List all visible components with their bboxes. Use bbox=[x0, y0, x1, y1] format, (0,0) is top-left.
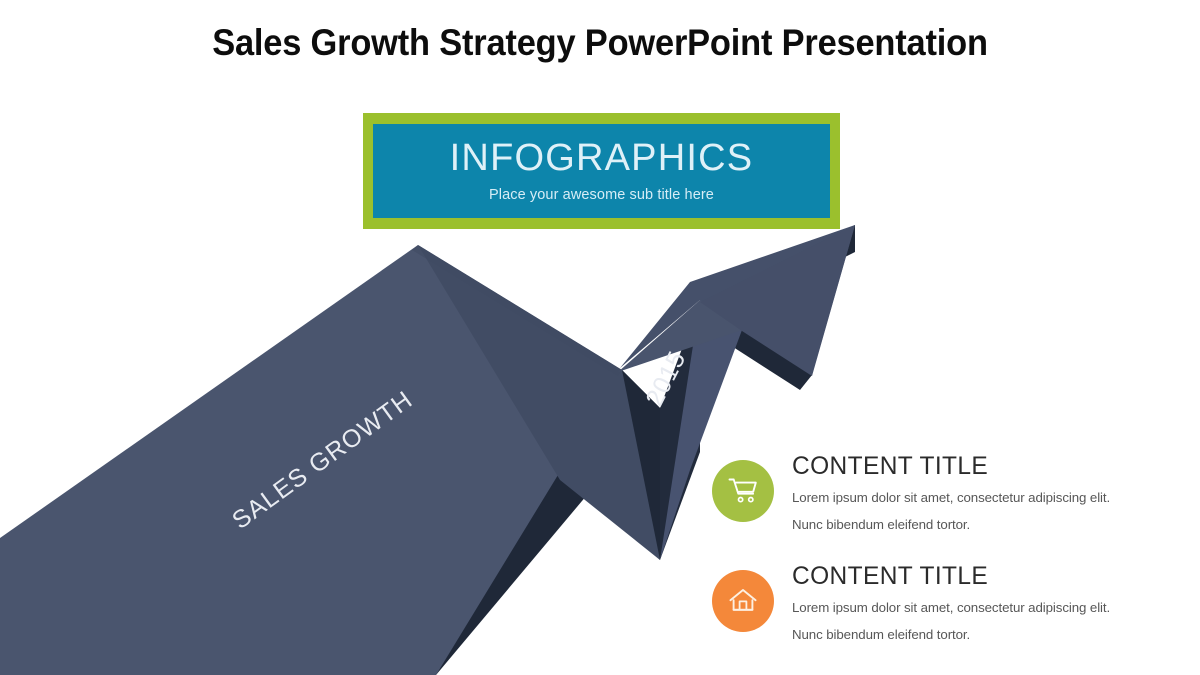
content-description-line-1: Lorem ipsum dolor sit amet, consectetur … bbox=[792, 491, 1110, 504]
content-description-line-1: Lorem ipsum dolor sit amet, consectetur … bbox=[792, 601, 1110, 614]
shopping-cart-icon-circle[interactable] bbox=[712, 460, 774, 522]
shopping-cart-icon bbox=[728, 477, 758, 505]
home-icon bbox=[728, 587, 758, 615]
content-title: CONTENT TITLE bbox=[792, 562, 1104, 592]
infographics-banner-inner: INFOGRAPHICS Place your awesome sub titl… bbox=[373, 124, 830, 218]
content-description-line-2: Nunc bibendum eleifend tortor. bbox=[792, 518, 1110, 531]
content-text-group: CONTENT TITLE Lorem ipsum dolor sit amet… bbox=[792, 452, 1110, 531]
infographics-banner-subtitle: Place your awesome sub title here bbox=[489, 187, 714, 203]
content-block[interactable]: CONTENT TITLE Lorem ipsum dolor sit amet… bbox=[712, 562, 1110, 641]
infographics-banner: INFOGRAPHICS Place your awesome sub titl… bbox=[363, 113, 840, 229]
content-text-group: CONTENT TITLE Lorem ipsum dolor sit amet… bbox=[792, 562, 1110, 641]
slide-canvas: Sales Growth Strategy PowerPoint Present… bbox=[0, 0, 1200, 675]
infographics-banner-title: INFOGRAPHICS bbox=[450, 139, 754, 179]
content-description-line-2: Nunc bibendum eleifend tortor. bbox=[792, 628, 1110, 641]
content-title: CONTENT TITLE bbox=[792, 452, 1104, 482]
home-icon-circle[interactable] bbox=[712, 570, 774, 632]
content-block[interactable]: CONTENT TITLE Lorem ipsum dolor sit amet… bbox=[712, 452, 1110, 531]
